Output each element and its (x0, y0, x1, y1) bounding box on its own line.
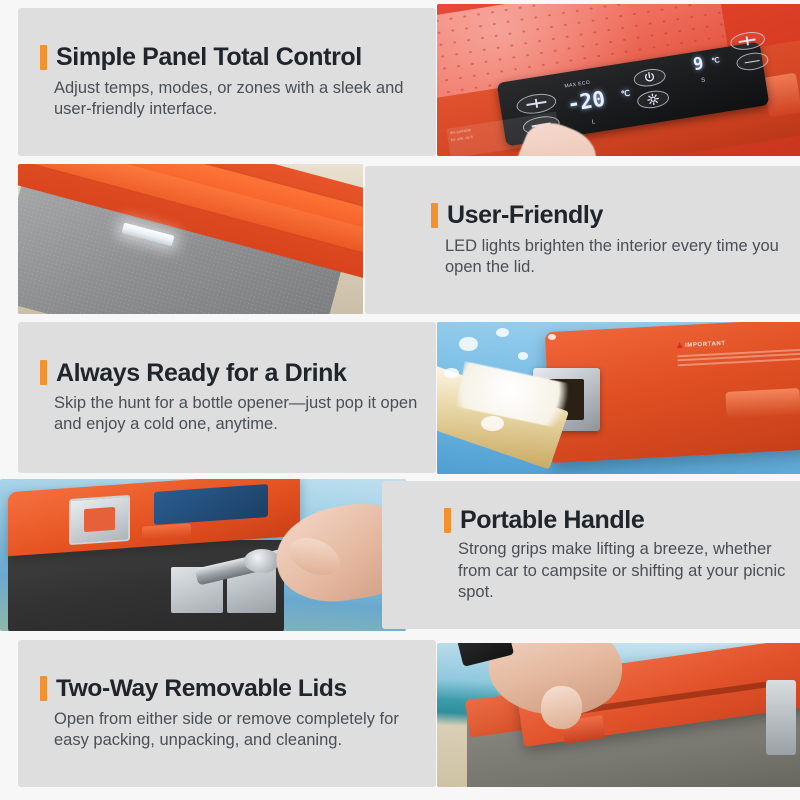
feature-image-user-friendly (18, 164, 363, 314)
feature-heading-row: Two-Way Removable Lids (40, 676, 436, 702)
power-glyph (633, 68, 665, 87)
feature-heading: Simple Panel Total Control (56, 44, 362, 70)
feature-card-user-friendly: User-Friendly LED lights brighten the in… (365, 166, 800, 314)
spray-droplet (481, 416, 503, 431)
bottle-opener-photo: IMPORTANT (437, 322, 800, 474)
gear-glyph (637, 89, 669, 108)
spray-droplet (459, 337, 478, 351)
control-panel-photo: MAX ECO -20 ℃ L (437, 4, 800, 156)
warning-title-row: IMPORTANT (677, 328, 800, 353)
feature-heading-row: User-Friendly (431, 202, 800, 228)
right-temperature-unit: ℃ (711, 56, 720, 65)
feature-image-simple-panel-total-control: MAX ECO -20 ℃ L (437, 4, 800, 156)
feature-description: Skip the hunt for a bottle opener—just p… (40, 393, 436, 435)
side-rail (766, 680, 796, 755)
right-zone-label: S (701, 77, 706, 84)
accent-bar-icon (431, 203, 438, 228)
feature-description: Adjust temps, modes, or zones with a sle… (40, 78, 436, 120)
removable-lid-photo (437, 643, 800, 787)
left-temperature-value: -20 (566, 87, 607, 117)
left-zone-label: L (591, 119, 596, 126)
gear-icon[interactable] (636, 88, 670, 109)
warning-label: IMPORTANT (677, 328, 800, 354)
feature-heading-row: Portable Handle (444, 507, 800, 533)
power-icon[interactable] (632, 67, 666, 88)
feature-description: Open from either side or remove complete… (40, 709, 436, 751)
accent-bar-icon (444, 508, 451, 533)
feature-card-two-way-removable-lids: Two-Way Removable Lids Open from either … (18, 640, 436, 787)
accent-bar-icon (40, 360, 47, 385)
corner-latch (69, 495, 130, 545)
warning-triangle-icon (677, 342, 683, 348)
feature-card-simple-panel-total-control: Simple Panel Total Control Adjust temps,… (18, 8, 436, 156)
side-latch (763, 73, 800, 117)
feature-heading: Two-Way Removable Lids (56, 676, 347, 702)
warning-title: IMPORTANT (685, 341, 726, 349)
left-temperature-unit: ℃ (620, 88, 630, 98)
led-rim-photo (18, 164, 363, 314)
feature-heading-row: Always Ready for a Drink (40, 360, 436, 386)
lid-tab (142, 523, 191, 540)
accent-bar-icon (40, 676, 47, 701)
right-temperature-value: 9 (692, 53, 705, 74)
feature-heading: Portable Handle (460, 507, 644, 533)
feature-heading: User-Friendly (447, 202, 603, 228)
portable-handle-photo (0, 479, 406, 631)
feature-grid-page: Simple Panel Total Control Adjust temps,… (0, 0, 800, 800)
feature-card-portable-handle: Portable Handle Strong grips make liftin… (382, 481, 800, 629)
feature-card-always-ready-for-a-drink: Always Ready for a Drink Skip the hunt f… (18, 322, 436, 473)
feature-image-portable-handle (0, 479, 406, 631)
feature-image-always-ready-for-a-drink: IMPORTANT (437, 322, 800, 474)
feature-heading-row: Simple Panel Total Control (40, 44, 436, 70)
spray-droplet (518, 352, 528, 360)
accent-bar-icon (40, 45, 47, 70)
cooler-side-grip (725, 388, 800, 418)
feature-description: LED lights brighten the interior every t… (431, 236, 800, 278)
feature-image-two-way-removable-lids (437, 643, 800, 787)
spray-droplet (496, 328, 509, 337)
feature-heading: Always Ready for a Drink (56, 360, 347, 386)
feature-description: Strong grips make lifting a breeze, whet… (444, 539, 800, 602)
